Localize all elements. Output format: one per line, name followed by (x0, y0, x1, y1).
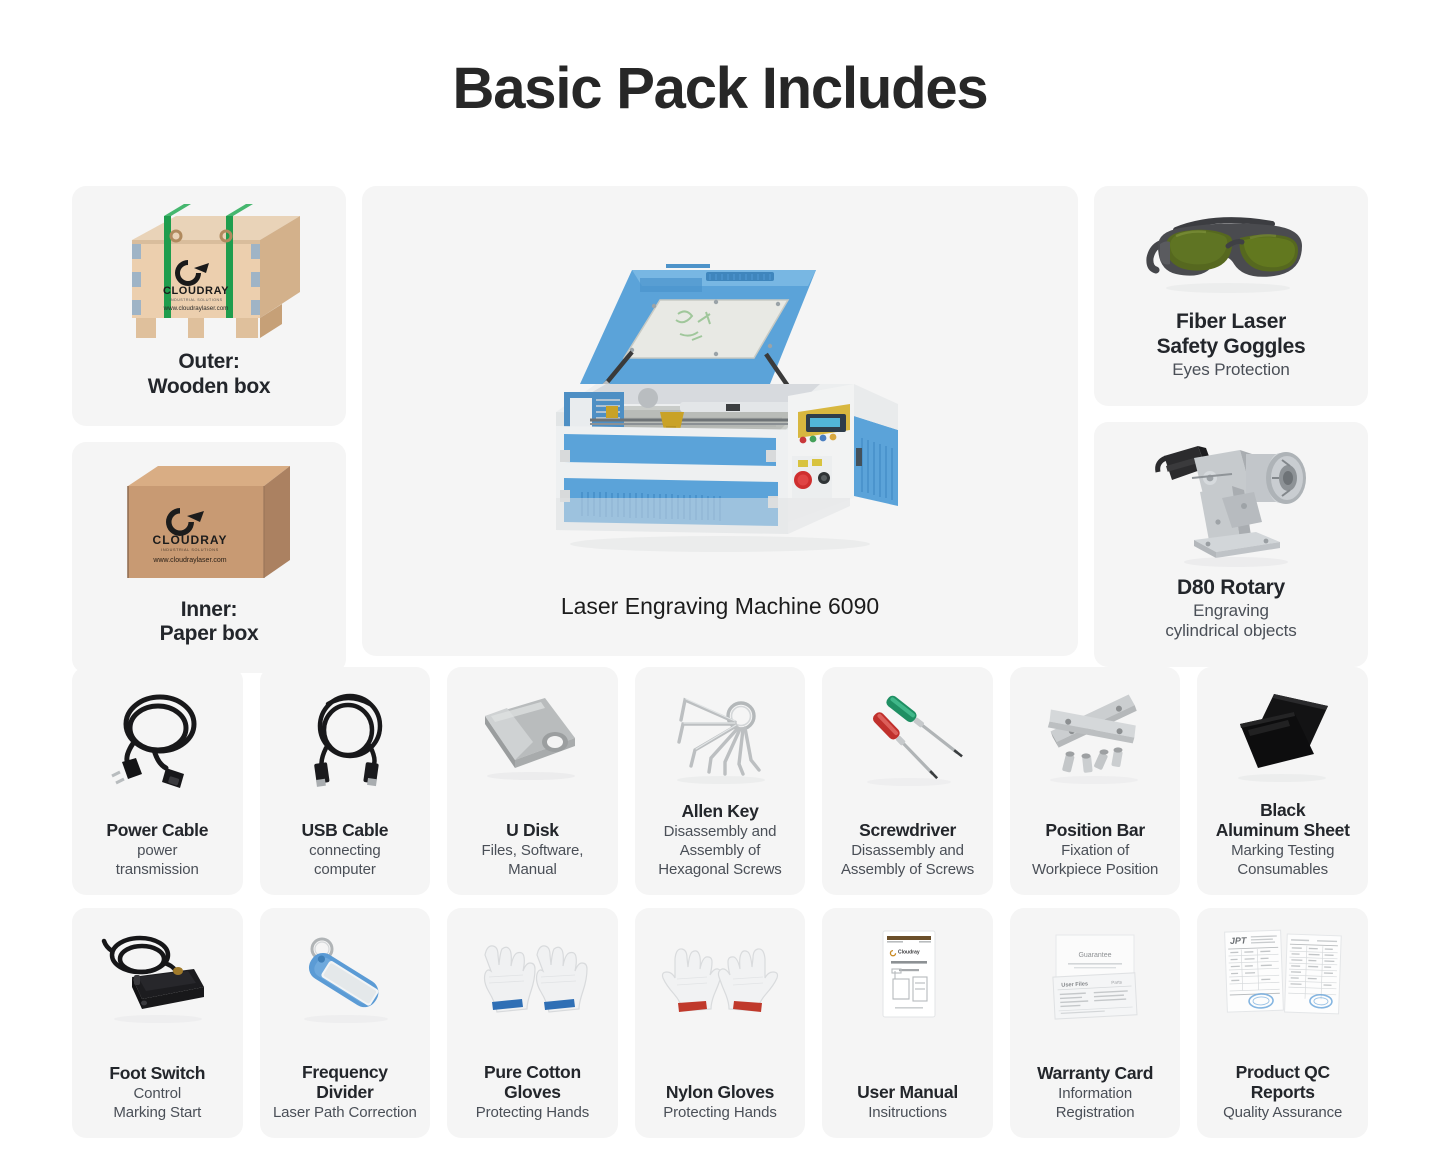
card-subtitle-line2: transmission (78, 861, 237, 879)
usb-cable-icon (260, 677, 431, 795)
card-subtitle-line1: connecting (266, 842, 425, 860)
card-title-line2: Safety Goggles (1100, 335, 1362, 360)
allen-key-icon (635, 677, 806, 795)
card-title-line1: Outer: (78, 350, 340, 375)
card-title: Position Bar (1016, 820, 1175, 841)
accessories-row-1: Power Cable power transmission (72, 667, 1368, 895)
card-subtitle-line1: power (78, 842, 237, 860)
card-title: USB Cable (266, 820, 425, 841)
laser-engraving-machine-icon (362, 206, 1078, 593)
card-u-disk[interactable]: U Disk Files, Software, Manual (447, 667, 618, 895)
caption: Fiber Laser Safety Goggles Eyes Protecti… (1094, 310, 1368, 406)
caption: Product QC Reports Quality Assurance (1197, 1062, 1368, 1138)
safety-goggles-icon (1094, 200, 1368, 310)
wooden-crate-icon: CLOUDRAY INDUSTRIAL SOLUTIONS www.cloudr… (72, 200, 346, 350)
main-card-title: Laser Engraving Machine 6090 (368, 593, 1072, 620)
card-title: Warranty Card (1016, 1063, 1175, 1084)
card-paper-box[interactable]: CLOUDRAY INDUSTRIAL SOLUTIONS www.cloudr… (72, 442, 346, 674)
caption: D80 Rotary Engraving cylindrical objects (1094, 576, 1368, 668)
cotton-gloves-icon (447, 918, 618, 1036)
card-subtitle-line3: Hexagonal Screws (641, 861, 800, 879)
card-foot-switch[interactable]: Foot Switch Control Marking Start (72, 908, 243, 1138)
position-bar-icon (1010, 677, 1181, 795)
card-title: Nylon Gloves (641, 1082, 800, 1103)
caption: Allen Key Disassembly and Assembly of He… (635, 801, 806, 895)
card-title-line2: Reports (1203, 1082, 1362, 1103)
svg-text:CLOUDRAY: CLOUDRAY (163, 285, 229, 297)
caption: Frequency Divider Laser Path Correction (260, 1062, 431, 1138)
card-wooden-box[interactable]: CLOUDRAY INDUSTRIAL SOLUTIONS www.cloudr… (72, 186, 346, 426)
card-title-line1: Inner: (78, 598, 340, 623)
card-title: Allen Key (641, 801, 800, 822)
card-subtitle-line1: Disassembly and (641, 823, 800, 841)
svg-text:www.cloudraylaser.com: www.cloudraylaser.com (163, 305, 229, 312)
card-subtitle-line2: Manual (453, 861, 612, 879)
foot-switch-icon (72, 918, 243, 1036)
card-subtitle-line1: Insitructions (828, 1104, 987, 1122)
card-subtitle-line1: Information (1016, 1085, 1175, 1103)
paper-carton-icon: CLOUDRAY INDUSTRIAL SOLUTIONS www.cloudr… (72, 456, 346, 598)
svg-text:Parts: Parts (1111, 979, 1123, 985)
caption: Inner: Paper box (72, 598, 346, 674)
card-subtitle-line2: Marking Start (78, 1104, 237, 1122)
card-title-line1: Black (1203, 800, 1362, 821)
card-title-line1: Frequency (266, 1062, 425, 1083)
caption: User Manual Insitructions (822, 1082, 993, 1138)
card-nylon-gloves[interactable]: Nylon Gloves Protecting Hands (635, 908, 806, 1138)
caption: Black Aluminum Sheet Marking Testing Con… (1197, 800, 1368, 895)
black-aluminum-sheet-icon (1197, 677, 1368, 795)
card-title-line1: Product QC (1203, 1062, 1362, 1083)
caption: Laser Engraving Machine 6090 (362, 593, 1078, 656)
card-subtitle-line1: Quality Assurance (1203, 1104, 1362, 1122)
card-cotton-gloves[interactable]: Pure Cotton Gloves Protecting Hands (447, 908, 618, 1138)
card-subtitle-line2: Assembly of (641, 842, 800, 860)
rotary-chuck-icon (1094, 436, 1368, 576)
user-manual-icon: Cloudray (822, 918, 993, 1036)
qc-report-icon: JPT (1197, 918, 1368, 1036)
card-warranty-card[interactable]: Guarantee User Files Parts (1010, 908, 1181, 1138)
caption: Nylon Gloves Protecting Hands (635, 1082, 806, 1138)
card-title-line2: Wooden box (78, 375, 340, 400)
card-frequency-divider[interactable]: Frequency Divider Laser Path Correction (260, 908, 431, 1138)
svg-text:CLOUDRAY: CLOUDRAY (153, 533, 228, 547)
card-title: User Manual (828, 1082, 987, 1103)
card-title-line2: Aluminum Sheet (1203, 820, 1362, 841)
svg-text:Guarantee: Guarantee (1079, 952, 1112, 959)
caption: Power Cable power transmission (72, 820, 243, 895)
card-subtitle-line1: Protecting Hands (453, 1104, 612, 1122)
svg-text:INDUSTRIAL SOLUTIONS: INDUSTRIAL SOLUTIONS (161, 548, 218, 552)
caption: Pure Cotton Gloves Protecting Hands (447, 1062, 618, 1138)
card-subtitle-line1: Laser Path Correction (266, 1104, 425, 1122)
card-usb-cable[interactable]: USB Cable connecting computer (260, 667, 431, 895)
caption: Foot Switch Control Marking Start (72, 1063, 243, 1138)
card-subtitle-line2: Consumables (1203, 861, 1362, 879)
caption: Screwdriver Disassembly and Assembly of … (822, 820, 993, 895)
card-subtitle-line1: Disassembly and (828, 842, 987, 860)
card-allen-key[interactable]: Allen Key Disassembly and Assembly of He… (635, 667, 806, 895)
top-region: CLOUDRAY INDUSTRIAL SOLUTIONS www.cloudr… (72, 186, 1368, 656)
card-subtitle-line2: Assembly of Screws (828, 861, 987, 879)
u-disk-icon (447, 677, 618, 795)
card-title: D80 Rotary (1100, 576, 1362, 601)
svg-text:Cloudray: Cloudray (898, 949, 920, 955)
card-safety-goggles[interactable]: Fiber Laser Safety Goggles Eyes Protecti… (1094, 186, 1368, 406)
frequency-divider-icon (260, 918, 431, 1036)
card-subtitle-line2: Registration (1016, 1104, 1175, 1122)
screwdriver-icon (822, 677, 993, 795)
card-subtitle-line1: Fixation of (1016, 842, 1175, 860)
accessories-row-2: Foot Switch Control Marking Start (72, 908, 1368, 1138)
card-subtitle-line1: Files, Software, (453, 842, 612, 860)
card-laser-engraving-machine[interactable]: Laser Engraving Machine 6090 (362, 186, 1078, 656)
main-product-column: Laser Engraving Machine 6090 (362, 186, 1078, 656)
card-title-line1: Fiber Laser (1100, 310, 1362, 335)
svg-text:JPT: JPT (1229, 935, 1247, 946)
card-position-bar[interactable]: Position Bar Fixation of Workpiece Posit… (1010, 667, 1181, 895)
nylon-gloves-icon (635, 918, 806, 1036)
card-title-line2: Paper box (78, 622, 340, 647)
caption: Outer: Wooden box (72, 350, 346, 426)
caption: U Disk Files, Software, Manual (447, 820, 618, 895)
card-title: Screwdriver (828, 820, 987, 841)
card-subtitle: Eyes Protection (1100, 360, 1362, 380)
card-subtitle-line2: Workpiece Position (1016, 861, 1175, 879)
card-title-line2: Divider (266, 1082, 425, 1103)
svg-text:www.cloudraylaser.com: www.cloudraylaser.com (152, 557, 226, 564)
card-power-cable[interactable]: Power Cable power transmission (72, 667, 243, 895)
card-title: U Disk (453, 820, 612, 841)
card-d80-rotary[interactable]: D80 Rotary Engraving cylindrical objects (1094, 422, 1368, 668)
card-black-aluminum-sheet[interactable]: Black Aluminum Sheet Marking Testing Con… (1197, 667, 1368, 895)
card-title-line1: Pure Cotton (453, 1062, 612, 1083)
card-title: Power Cable (78, 820, 237, 841)
svg-text:INDUSTRIAL SOLUTIONS: INDUSTRIAL SOLUTIONS (170, 298, 223, 302)
card-subtitle-line1: Control (78, 1085, 237, 1103)
card-subtitle-line1: Engraving (1100, 601, 1362, 621)
product-pack-infographic: Basic Pack Includes (0, 0, 1440, 1158)
card-subtitle-line1: Protecting Hands (641, 1104, 800, 1122)
card-screwdriver[interactable]: Screwdriver Disassembly and Assembly of … (822, 667, 993, 895)
card-qc-reports[interactable]: JPT (1197, 908, 1368, 1138)
card-title-line2: Gloves (453, 1082, 612, 1103)
card-subtitle-line2: computer (266, 861, 425, 879)
caption: Position Bar Fixation of Workpiece Posit… (1010, 820, 1181, 895)
page-title: Basic Pack Includes (0, 0, 1440, 118)
card-title: Foot Switch (78, 1063, 237, 1084)
caption: USB Cable connecting computer (260, 820, 431, 895)
caption: Warranty Card Information Registration (1010, 1063, 1181, 1138)
power-cable-icon (72, 677, 243, 795)
card-user-manual[interactable]: Cloudray (822, 908, 993, 1138)
card-subtitle-line2: cylindrical objects (1100, 621, 1362, 641)
warranty-card-icon: Guarantee User Files Parts (1010, 918, 1181, 1036)
packaging-column: CLOUDRAY INDUSTRIAL SOLUTIONS www.cloudr… (72, 186, 346, 656)
extras-column: Fiber Laser Safety Goggles Eyes Protecti… (1094, 186, 1368, 656)
card-subtitle-line1: Marking Testing (1203, 842, 1362, 860)
